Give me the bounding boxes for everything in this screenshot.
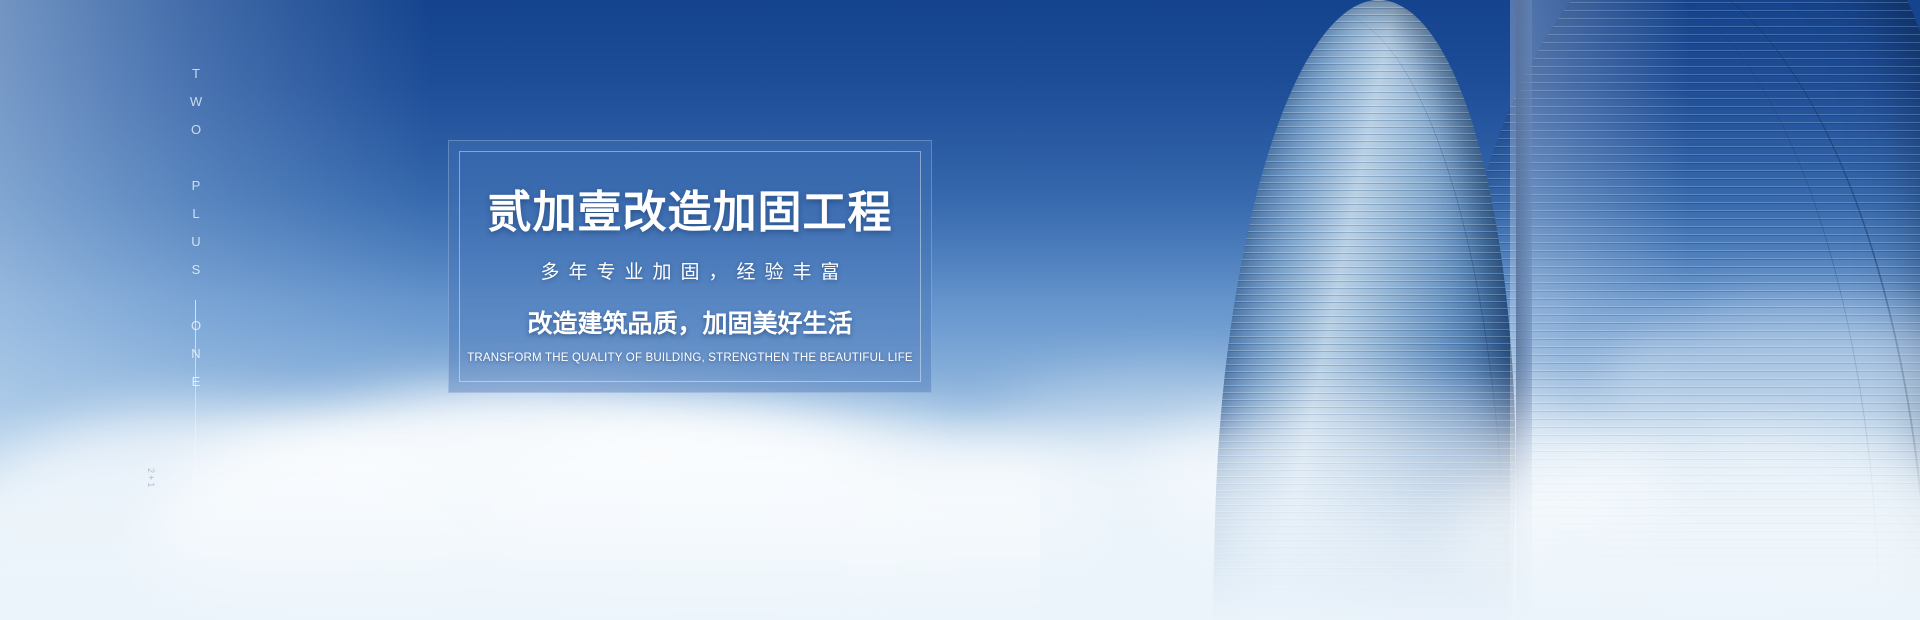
vertical-rule: [195, 300, 196, 530]
page-title: 贰加壹改造加固工程: [488, 191, 893, 235]
vertical-brand: TWO PLUS ONE: [176, 66, 216, 316]
hero-text-panel: 贰加壹改造加固工程 多年专业加固，经验丰富 改造建筑品质，加固美好生活 TRAN…: [448, 140, 932, 393]
hero-banner: TWO PLUS ONE 2+1 贰加壹改造加固工程 多年专业加固，经验丰富 改…: [0, 0, 1920, 620]
corner-mark: 2+1: [146, 468, 156, 489]
panel-subtitle: 多年专业加固，经验丰富: [531, 257, 848, 284]
panel-slogan-cn: 改造建筑品质，加固美好生活: [527, 304, 852, 340]
bottom-haze: [0, 410, 1920, 620]
panel-content: 贰加壹改造加固工程 多年专业加固，经验丰富 改造建筑品质，加固美好生活 TRAN…: [461, 153, 919, 380]
panel-slogan-en: TRANSFORM THE QUALITY OF BUILDING, STREN…: [467, 352, 913, 364]
vertical-brand-label: TWO PLUS ONE: [189, 66, 204, 402]
